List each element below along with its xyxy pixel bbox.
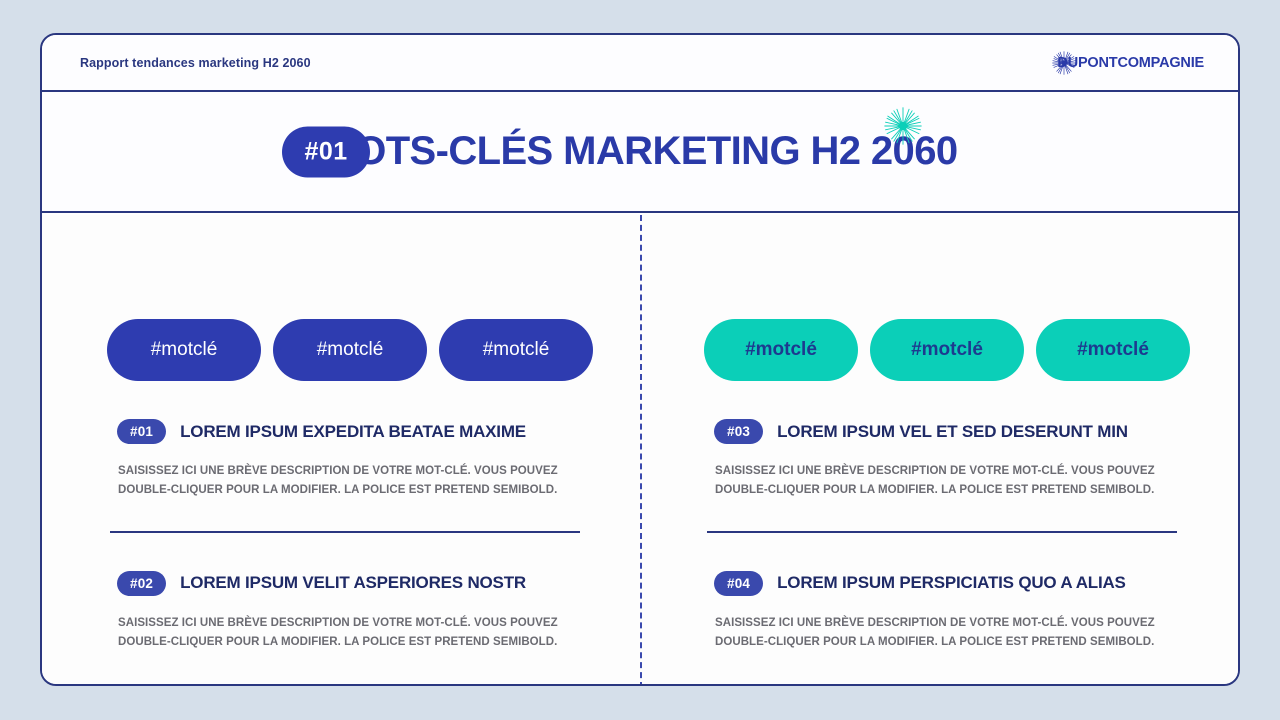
column-left: #motclé #motclé #motclé #01 LOREM IPSUM … <box>42 215 641 686</box>
entry-title: LOREM IPSUM VELIT ASPERIORES NOSTR <box>180 573 526 593</box>
slide-body: #motclé #motclé #motclé #01 LOREM IPSUM … <box>42 215 1238 686</box>
slide-header: Rapport tendances marketing H2 2060 <box>42 35 1238 92</box>
list-item[interactable]: #04 LOREM IPSUM PERSPICIATIS QUO A ALIAS… <box>704 571 1190 653</box>
keyword-pill[interactable]: #motclé <box>870 319 1024 381</box>
title-band: #01 MOTS-CLÉS MARKETING H2 2060 <box>42 92 1238 213</box>
keyword-pill[interactable]: #motclé <box>704 319 858 381</box>
starburst-icon <box>884 107 922 145</box>
entry-title: LOREM IPSUM PERSPICIATIS QUO A ALIAS <box>777 573 1126 593</box>
report-title: Rapport tendances marketing H2 2060 <box>80 56 311 70</box>
brand-logo[interactable]: DUPONTCOMPAGNIE <box>1057 55 1204 71</box>
keyword-pill-row: #motclé #motclé #motclé <box>107 319 593 381</box>
column-right: #motclé #motclé #motclé #03 LOREM IPSUM … <box>641 215 1238 686</box>
title-wrap: #01 MOTS-CLÉS MARKETING H2 2060 <box>322 129 957 174</box>
title-badge: #01 <box>282 126 369 177</box>
entry-head: #01 LOREM IPSUM EXPEDITA BEATAE MAXIME <box>107 419 593 444</box>
keyword-pill-row: #motclé #motclé #motclé <box>704 319 1190 381</box>
entry-head: #04 LOREM IPSUM PERSPICIATIS QUO A ALIAS <box>704 571 1190 596</box>
entry-description[interactable]: SAISISSEZ ICI UNE BRÈVE DESCRIPTION DE V… <box>107 462 577 501</box>
entry-number-badge: #03 <box>714 419 763 444</box>
entry-number-badge: #01 <box>117 419 166 444</box>
entry-divider <box>110 531 580 533</box>
entry-description[interactable]: SAISISSEZ ICI UNE BRÈVE DESCRIPTION DE V… <box>704 462 1174 501</box>
list-item[interactable]: #02 LOREM IPSUM VELIT ASPERIORES NOSTR S… <box>107 571 593 653</box>
slide-card: Rapport tendances marketing H2 2060 <box>40 33 1240 686</box>
entry-head: #02 LOREM IPSUM VELIT ASPERIORES NOSTR <box>107 571 593 596</box>
entry-title: LOREM IPSUM EXPEDITA BEATAE MAXIME <box>180 422 526 442</box>
entry-description[interactable]: SAISISSEZ ICI UNE BRÈVE DESCRIPTION DE V… <box>107 614 577 653</box>
keyword-pill[interactable]: #motclé <box>107 319 261 381</box>
entry-divider <box>707 531 1177 533</box>
page-title: MOTS-CLÉS MARKETING H2 2060 <box>322 129 957 174</box>
entry-number-badge: #02 <box>117 571 166 596</box>
entry-title: LOREM IPSUM VEL ET SED DESERUNT MIN <box>777 422 1128 442</box>
entry-number-badge: #04 <box>714 571 763 596</box>
entry-description[interactable]: SAISISSEZ ICI UNE BRÈVE DESCRIPTION DE V… <box>704 614 1174 653</box>
list-item[interactable]: #01 LOREM IPSUM EXPEDITA BEATAE MAXIME S… <box>107 419 593 501</box>
keyword-pill[interactable]: #motclé <box>439 319 593 381</box>
brand-name: DUPONTCOMPAGNIE <box>1057 55 1204 71</box>
keyword-pill[interactable]: #motclé <box>1036 319 1190 381</box>
entry-head: #03 LOREM IPSUM VEL ET SED DESERUNT MIN <box>704 419 1190 444</box>
keyword-pill[interactable]: #motclé <box>273 319 427 381</box>
list-item[interactable]: #03 LOREM IPSUM VEL ET SED DESERUNT MIN … <box>704 419 1190 501</box>
